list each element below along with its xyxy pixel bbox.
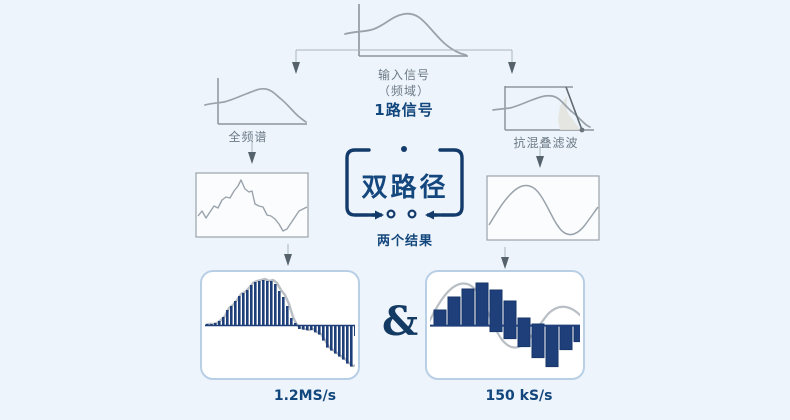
label-rate-left: 1.2MS/s (274, 388, 336, 404)
ampersand-symbol: & (382, 298, 418, 345)
label-antialias-filter: 抗混叠滤波 (513, 134, 578, 151)
label-one-channel-signal: 1路信号 (374, 99, 433, 120)
label-input-signal-line2: （频域） (378, 82, 430, 99)
connector-midright-to-bottomright (501, 247, 509, 269)
chart-input-spectrum (345, 4, 468, 56)
card-bottom-left (201, 271, 359, 379)
label-two-results: 两个结果 (377, 230, 433, 249)
diagram-graphics (0, 0, 790, 420)
label-input-signal-line1: 输入信号 (378, 66, 430, 83)
connector-midleft-to-bottomleft (284, 244, 292, 266)
label-rate-right: 150 kS/s (486, 388, 553, 404)
diagram-canvas: 全频谱 输入信号 （频域） 抗混叠滤波 1路信号 双路径 两个结果 & 1.2M… (0, 0, 790, 420)
label-full-spectrum: 全频谱 (228, 128, 267, 145)
chart-antialias-filter (493, 86, 594, 132)
chart-mid-left-noisy (196, 173, 308, 237)
label-dual-path: 双路径 (361, 167, 448, 204)
chart-full-spectrum (205, 78, 307, 124)
chart-mid-right-sine (487, 176, 599, 240)
card-bottom-right (426, 271, 586, 379)
